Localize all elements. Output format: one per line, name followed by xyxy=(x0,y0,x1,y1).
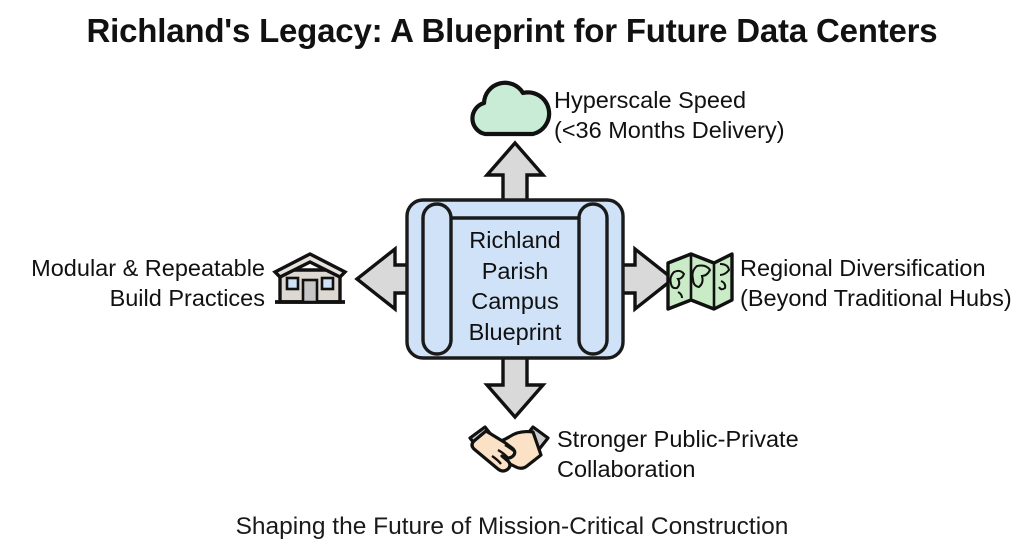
scroll-line-1: Richland xyxy=(434,225,596,256)
branch-left-line-1: Modular & Repeatable xyxy=(10,253,265,283)
branch-bottom-line-1: Stronger Public-Private xyxy=(557,424,799,454)
diagram-canvas: Richland Parish Campus Blueprint Hypersc… xyxy=(0,0,1024,559)
factory-building-icon xyxy=(275,254,345,302)
folded-map-icon xyxy=(668,254,732,309)
central-scroll-label: Richland Parish Campus Blueprint xyxy=(434,225,596,347)
scroll-line-2: Parish xyxy=(434,256,596,287)
branch-label-regional-diversification: Regional Diversification (Beyond Traditi… xyxy=(740,253,1012,313)
branch-label-modular-build-practices: Modular & Repeatable Build Practices xyxy=(10,253,265,313)
branch-label-hyperscale-speed: Hyperscale Speed (<36 Months Delivery) xyxy=(554,85,785,145)
scroll-line-3: Campus xyxy=(434,286,596,317)
handshake-icon xyxy=(470,427,548,471)
branch-top-line-2: (<36 Months Delivery) xyxy=(554,115,785,145)
branch-left-line-2: Build Practices xyxy=(10,283,265,313)
branch-bottom-line-2: Collaboration xyxy=(557,454,799,484)
branch-right-line-2: (Beyond Traditional Hubs) xyxy=(740,283,1012,313)
cloud-icon xyxy=(472,83,549,134)
branch-top-line-1: Hyperscale Speed xyxy=(554,85,785,115)
scroll-line-4: Blueprint xyxy=(434,317,596,348)
branch-right-line-1: Regional Diversification xyxy=(740,253,1012,283)
page-footer-caption: Shaping the Future of Mission-Critical C… xyxy=(0,513,1024,541)
branch-label-public-private-collaboration: Stronger Public-Private Collaboration xyxy=(557,424,799,484)
